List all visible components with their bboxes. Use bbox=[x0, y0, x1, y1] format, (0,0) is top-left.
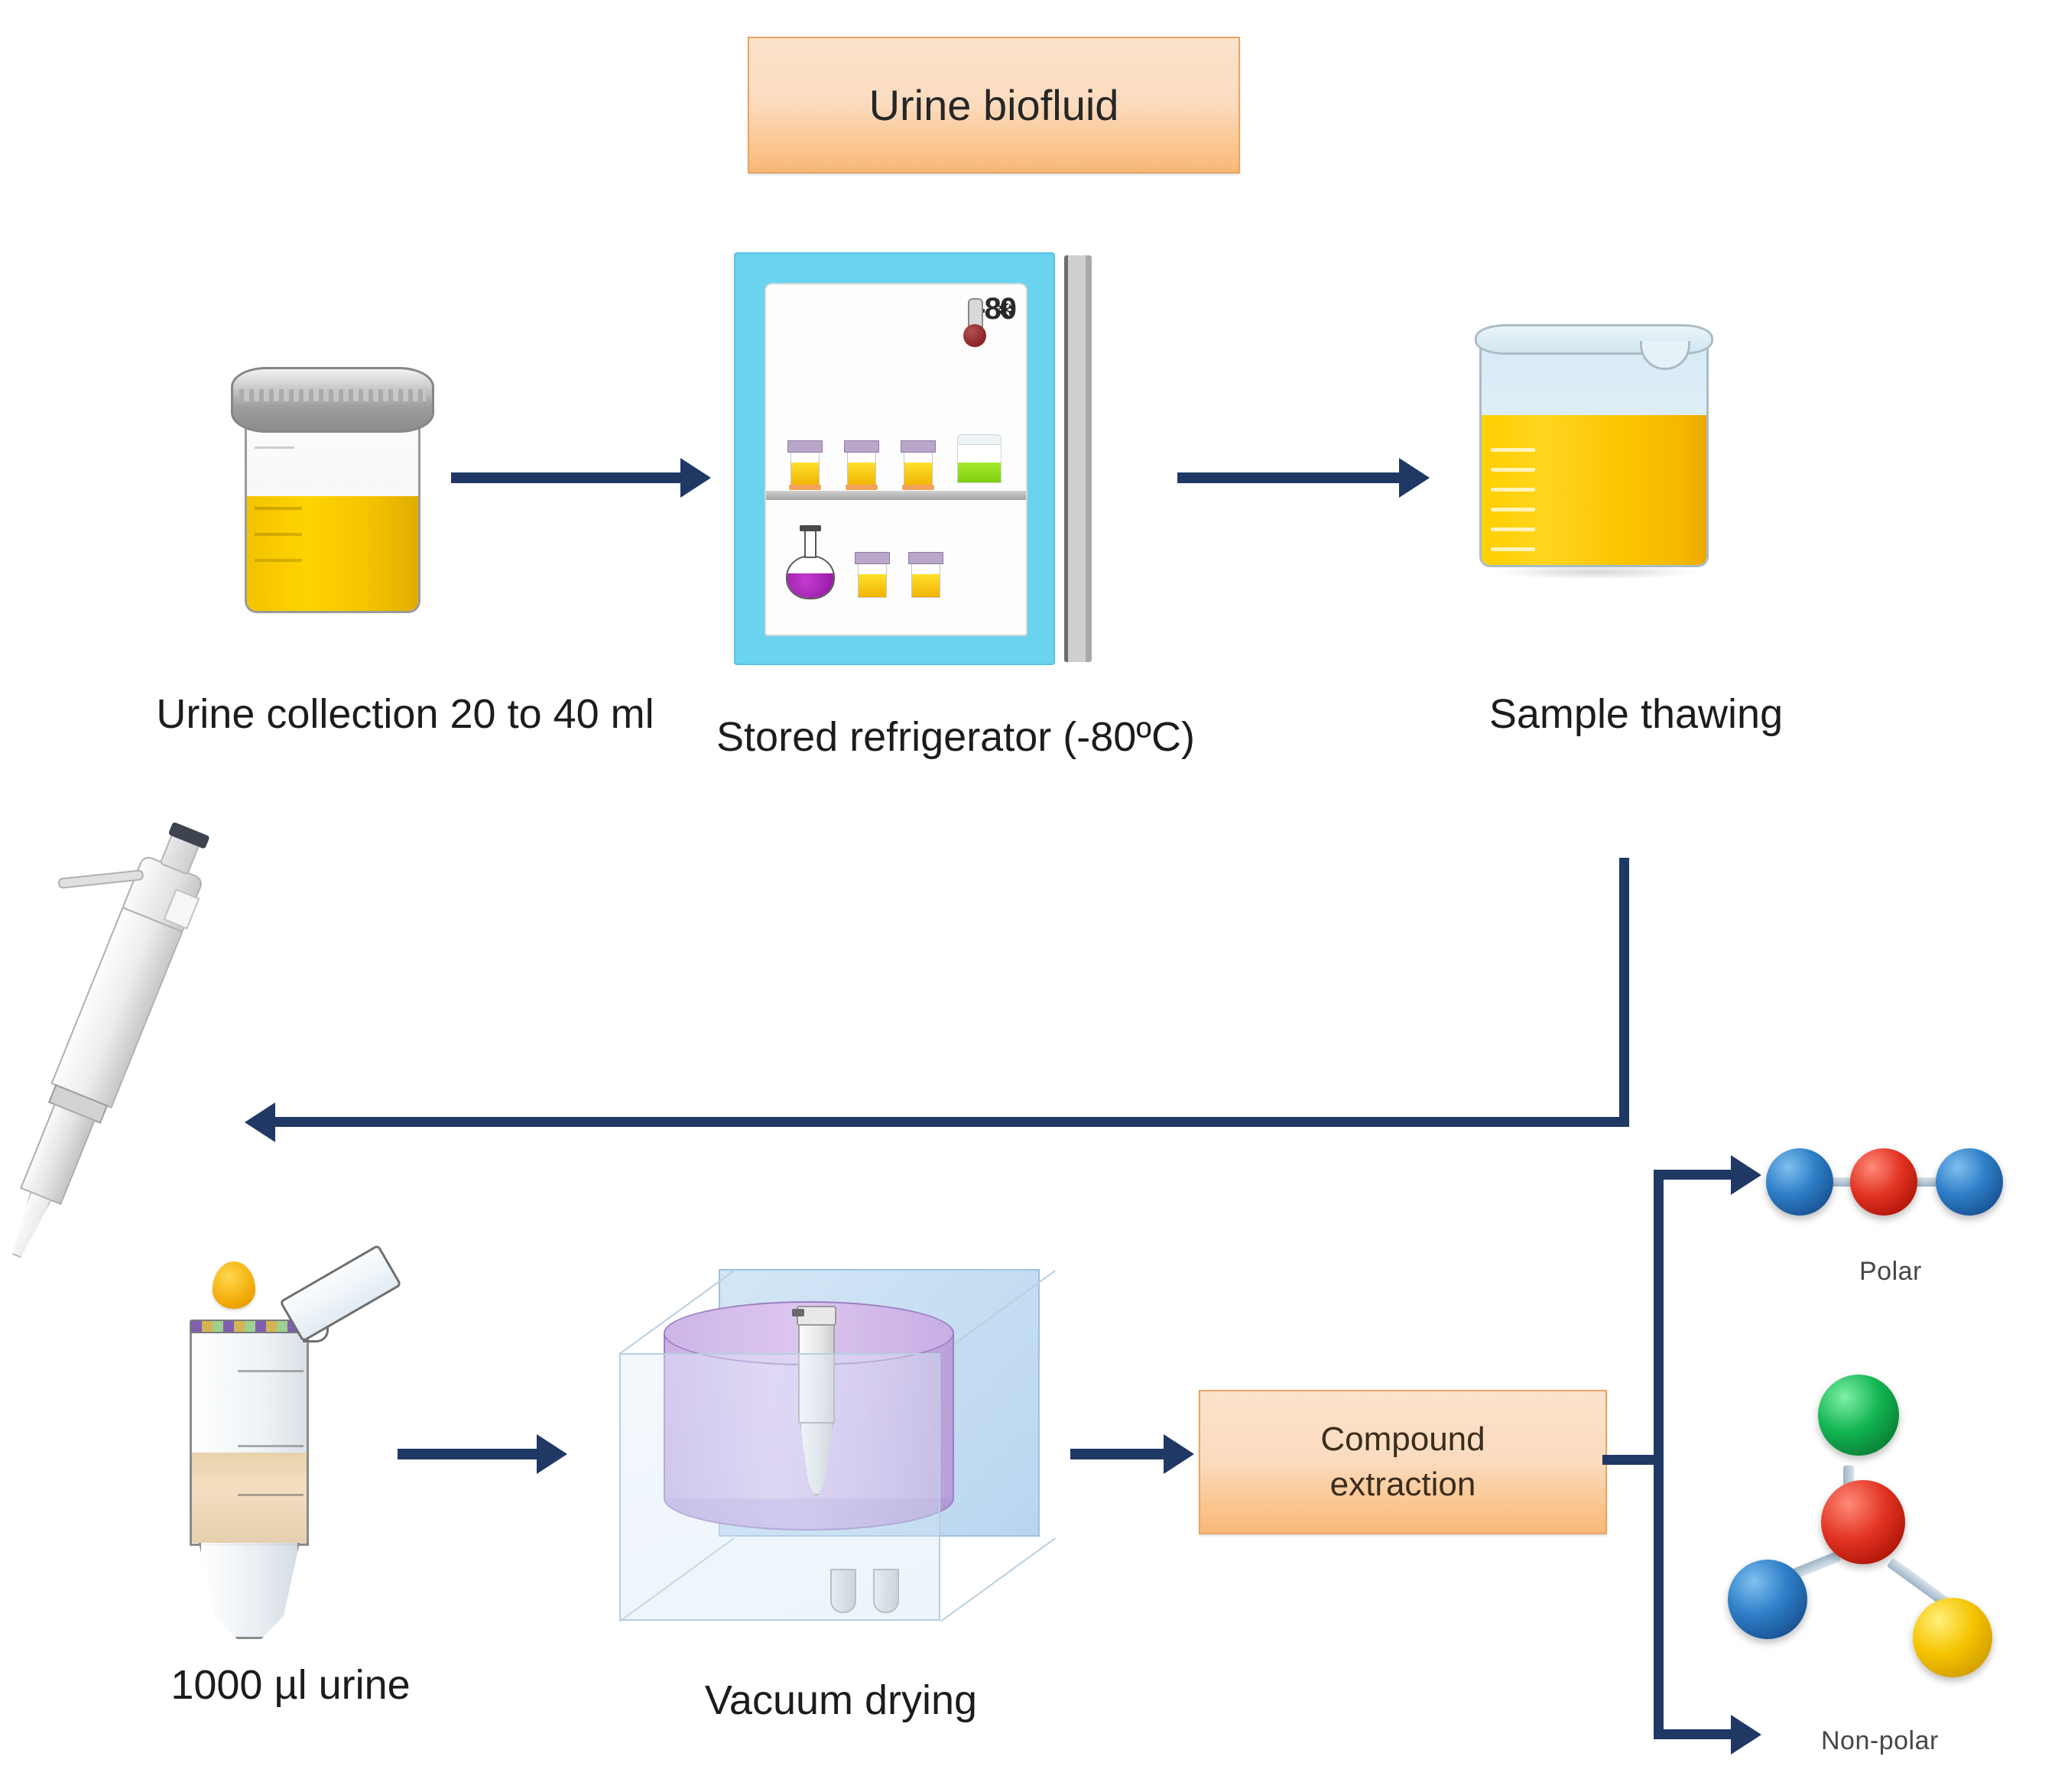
compound-extraction-label-line1: Compound bbox=[1320, 1420, 1485, 1460]
compound-extraction-label-line2: extraction bbox=[1330, 1465, 1476, 1505]
nonpolar-molecule-icon bbox=[1720, 1368, 2049, 1705]
freezer-flask bbox=[786, 528, 835, 601]
label-polar: Polar bbox=[1859, 1257, 1922, 1287]
specimen-cup-body bbox=[245, 414, 420, 613]
caption-aliquot-volume: 1000 µl urine bbox=[76, 1659, 505, 1712]
label-non-polar: Non-polar bbox=[1821, 1726, 1939, 1756]
freezer-icon: -80 ❄ bbox=[734, 252, 1093, 665]
freezer-vial bbox=[908, 552, 943, 598]
specimen-cup-urine bbox=[247, 496, 418, 611]
snowflake-icon: ❄ bbox=[996, 300, 1015, 323]
freezer-shelf bbox=[766, 491, 1026, 500]
compound-extraction-box: Compound extraction bbox=[1199, 1390, 1607, 1534]
vacuum-chamber-front bbox=[619, 1353, 940, 1621]
freezer-vial bbox=[901, 440, 936, 486]
micropipette-icon bbox=[38, 856, 321, 1330]
eppendorf-sample bbox=[192, 1453, 307, 1543]
freezer-vial bbox=[787, 440, 823, 486]
atom-red bbox=[1850, 1148, 1917, 1216]
caption-sample-thawing: Sample thawing bbox=[1430, 688, 1842, 741]
eppendorf-body bbox=[190, 1330, 309, 1546]
polar-molecule-icon bbox=[1758, 1131, 2049, 1231]
atom-red bbox=[1821, 1480, 1905, 1564]
eppendorf-cone bbox=[199, 1543, 300, 1639]
caption-stored-refrigerator: Stored refrigerator (-80ºC) bbox=[665, 711, 1246, 764]
urine-biofluid-box: Urine biofluid bbox=[748, 37, 1240, 174]
urine-biofluid-label: Urine biofluid bbox=[869, 80, 1119, 131]
thermometer-bulb-icon bbox=[963, 324, 986, 347]
atom-blue bbox=[1728, 1560, 1807, 1639]
beaker-glass bbox=[1479, 338, 1709, 567]
specimen-cup-lid bbox=[231, 367, 434, 433]
vacuum-dryer-icon bbox=[604, 1269, 1063, 1667]
atom-yellow bbox=[1913, 1598, 1992, 1677]
freezer-green-container bbox=[956, 434, 1003, 483]
caption-vacuum-drying: Vacuum drying bbox=[635, 1674, 1047, 1727]
specimen-cup-icon bbox=[229, 367, 436, 619]
beaker-graduations bbox=[1491, 437, 1544, 551]
caption-urine-collection: Urine collection 20 to 40 ml bbox=[99, 688, 711, 741]
freezer-door-handle bbox=[1064, 255, 1092, 662]
workflow-diagram: Urine biofluid -80 ❄ bbox=[0, 0, 2055, 1792]
eppendorf-tube-icon bbox=[168, 1300, 420, 1659]
atom-green bbox=[1818, 1375, 1899, 1456]
atom-blue bbox=[1936, 1148, 2003, 1216]
freezer-vial bbox=[844, 440, 879, 486]
micropipette-body bbox=[0, 847, 219, 1278]
freezer-body: -80 ❄ bbox=[734, 252, 1055, 665]
beaker-icon bbox=[1479, 321, 1716, 581]
atom-blue bbox=[1766, 1148, 1833, 1216]
freezer-interior: -80 ❄ bbox=[765, 283, 1027, 636]
freezer-vial bbox=[855, 552, 890, 598]
